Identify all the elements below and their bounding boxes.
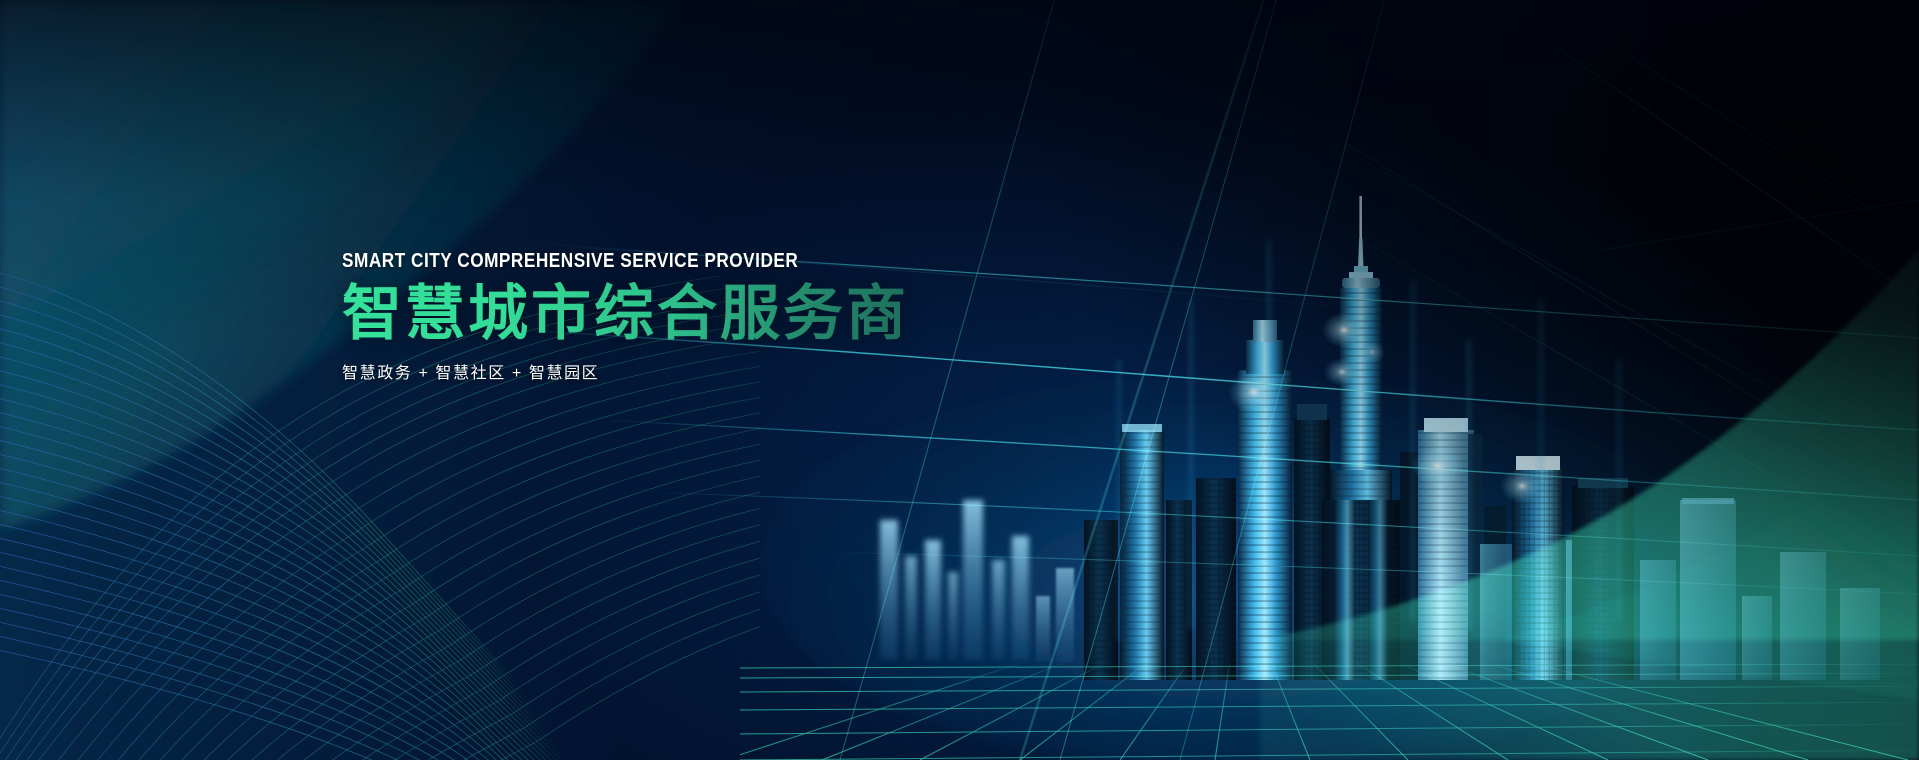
hero-copy-block: SMART CITY COMPREHENSIVE SERVICE PROVIDE…: [342, 250, 909, 383]
hero-eyebrow: SMART CITY COMPREHENSIVE SERVICE PROVIDE…: [342, 250, 830, 272]
hero-banner: SMART CITY COMPREHENSIVE SERVICE PROVIDE…: [0, 0, 1919, 760]
hero-subtitle: 智慧政务 + 智慧社区 + 智慧园区: [342, 359, 909, 383]
vignette-overlay: [0, 0, 1919, 760]
page-title: 智慧城市综合服务商: [342, 282, 909, 345]
